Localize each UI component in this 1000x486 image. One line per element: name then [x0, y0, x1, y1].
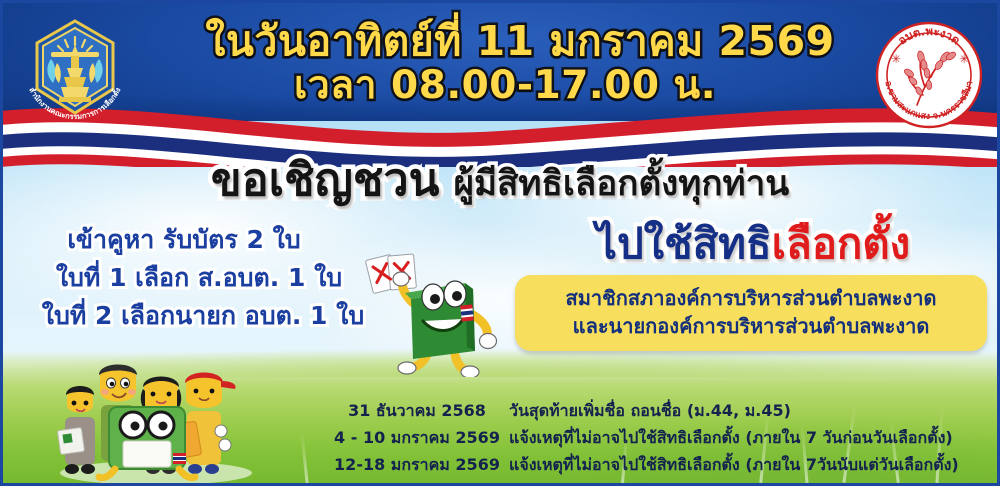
position-line-2: และนายกองค์การบริหารส่วนตำบลพะงาด — [525, 312, 977, 340]
invitation-headline: ขอเชิญชวน ผู้มีสิทธิเลือกตั้งทุกท่าน — [3, 143, 997, 215]
instruction-line-3: ใบที่ 2 เลือกนายก อบต. 1 ใบ — [3, 297, 403, 335]
call-to-action-headline: ไปใช้สิทธิเลือกตั้ง — [503, 211, 1000, 277]
mini-flag-icon — [173, 453, 186, 464]
flag-badge-icon — [460, 304, 474, 321]
schedule-detail: แจ้งเหตุที่ไม่อาจไปใช้สิทธิเลือกตั้ง (ภา… — [509, 453, 993, 478]
election-schedule-table: 31 ธันวาคม 2568 วันสุดท้ายเพิ่มชื่อ ถอนช… — [333, 399, 993, 478]
kid-student-left — [57, 386, 95, 474]
instruction-line-2: ใบที่ 1 เลือก ส.อบต. 1 ใบ — [3, 259, 403, 297]
cta-red-text: เลือกตั้ง — [772, 219, 911, 268]
schedule-date: 31 ธันวาคม 2568 — [333, 399, 501, 424]
invite-primary-text: ขอเชิญชวน — [211, 143, 440, 215]
election-time-line: เวลา 08.00-17.00 น. — [3, 65, 997, 107]
election-date-line: ในวันอาทิตย์ที่ 11 มกราคม 2569 — [3, 19, 997, 63]
voting-instructions: เข้าคูหา รับบัตร 2 ใบ ใบที่ 1 เลือก ส.อบ… — [3, 221, 403, 335]
kids-green-ballot-mascot — [99, 407, 195, 478]
schedule-detail: แจ้งเหตุที่ไม่อาจไปใช้สิทธิเลือกตั้ง (ภา… — [509, 426, 993, 451]
schedule-date: 12-18 มกราคม 2569 — [333, 453, 501, 478]
schedule-date: 4 - 10 มกราคม 2569 — [333, 426, 501, 451]
thai-kids-group — [45, 361, 267, 485]
schedule-detail: วันสุดท้ายเพิ่มชื่อ ถอนชื่อ (ม.44, ม.45) — [509, 399, 993, 424]
invite-secondary-text: ผู้มีสิทธิเลือกตั้งทุกท่าน — [453, 156, 789, 211]
position-line-1: สมาชิกสภาองค์การบริหารส่วนตำบลพะงาด — [525, 284, 977, 312]
instruction-line-1: เข้าคูหา รับบัตร 2 ใบ — [3, 221, 403, 259]
positions-yellow-box: สมาชิกสภาองค์การบริหารส่วนตำบลพะงาด และน… — [515, 275, 987, 351]
ballot-papers-icon — [365, 254, 416, 294]
election-banner: สำนักงานคณะกรรมการการเลือกตั้ง ✳ — [0, 0, 1000, 486]
cta-blue-text: ไปใช้สิทธิ — [596, 219, 772, 268]
green-ballot-box-mascot — [361, 251, 511, 377]
